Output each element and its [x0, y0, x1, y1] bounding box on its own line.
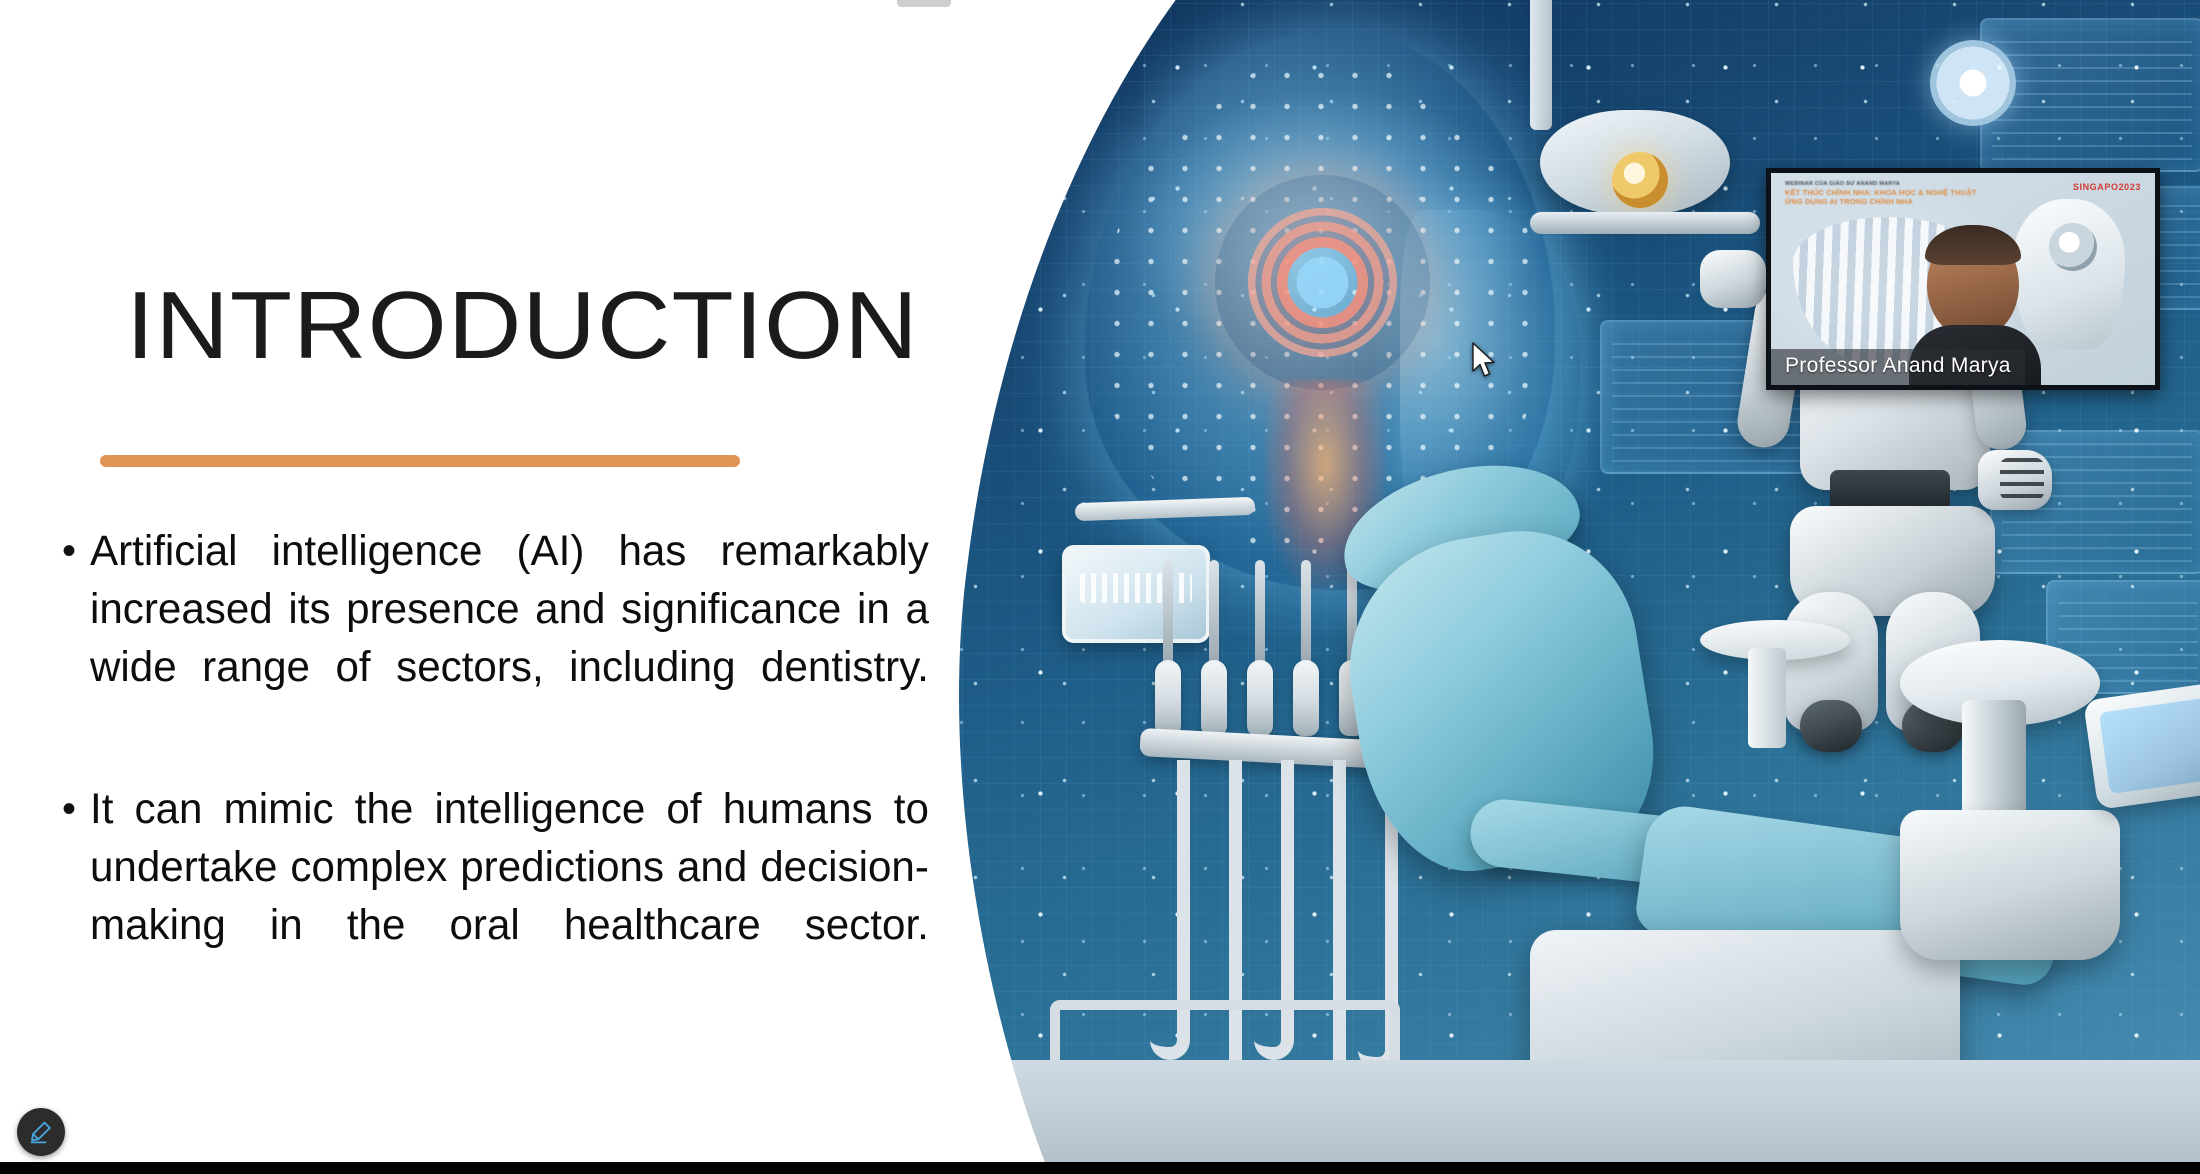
toolbar-handle[interactable]: [897, 0, 951, 7]
bullet-marker: •: [56, 780, 90, 838]
webcam-heading-small: WEBINAR CỦA GIÁO SƯ ANAND MARYA: [1785, 181, 2035, 188]
brain-core-rings: [1215, 175, 1430, 390]
bullet-text: It can mimic the intelligence of humans …: [90, 780, 929, 1012]
participant-name-label: Professor Anand Marya: [1771, 349, 2025, 385]
robot-left-hand: [1700, 250, 1766, 308]
title-underline-rule: [100, 455, 740, 467]
webcam-brand-logo: SINGAPO2023: [2073, 182, 2141, 192]
list-item: • Artificial intelligence (AI) has remar…: [56, 522, 946, 754]
bullet-text: Artificial intelligence (AI) has remarka…: [90, 522, 929, 754]
list-item: • It can mimic the intelligence of human…: [56, 780, 946, 1012]
presenter-hair: [1925, 225, 2021, 265]
pencil-icon: [28, 1119, 54, 1145]
brand-logo-text: SINGAPO: [2073, 182, 2119, 192]
clinic-floor: [1000, 1060, 2200, 1174]
robot-left-knee: [1800, 700, 1862, 752]
presentation-screen: INTRODUCTION • Artificial intelligence (…: [0, 0, 2200, 1174]
bullet-marker: •: [56, 522, 90, 580]
annotate-button[interactable]: [17, 1108, 65, 1156]
operatory-light-arm: [1530, 0, 1552, 130]
webcam-overlay[interactable]: WEBINAR CỦA GIÁO SƯ ANAND MARYA KẾT THÚC…: [1766, 168, 2160, 390]
bullet-list: • Artificial intelligence (AI) has remar…: [56, 522, 946, 1038]
bottom-letterbox-bar: [0, 1162, 2200, 1174]
cuspidor-base: [1900, 810, 2120, 960]
webcam-heading-line1: KẾT THÚC CHÍNH NHA: KHOA HỌC & NGHỆ THUẬ…: [1785, 188, 2035, 197]
page-title: INTRODUCTION: [126, 278, 919, 374]
side-tray-post: [1748, 648, 1786, 748]
robot-right-hand: [1978, 450, 2052, 510]
webcam-slide-heading: WEBINAR CỦA GIÁO SƯ ANAND MARYA KẾT THÚC…: [1785, 181, 2035, 206]
operatory-light-lens: [1612, 152, 1668, 208]
control-tablet: [2083, 680, 2200, 810]
webcam-heading-line2: ỨNG DỤNG AI TRONG CHỈNH NHA: [1785, 197, 2035, 206]
operatory-light-bar: [1530, 212, 1760, 234]
brand-logo-accent: 2023: [2119, 182, 2141, 192]
